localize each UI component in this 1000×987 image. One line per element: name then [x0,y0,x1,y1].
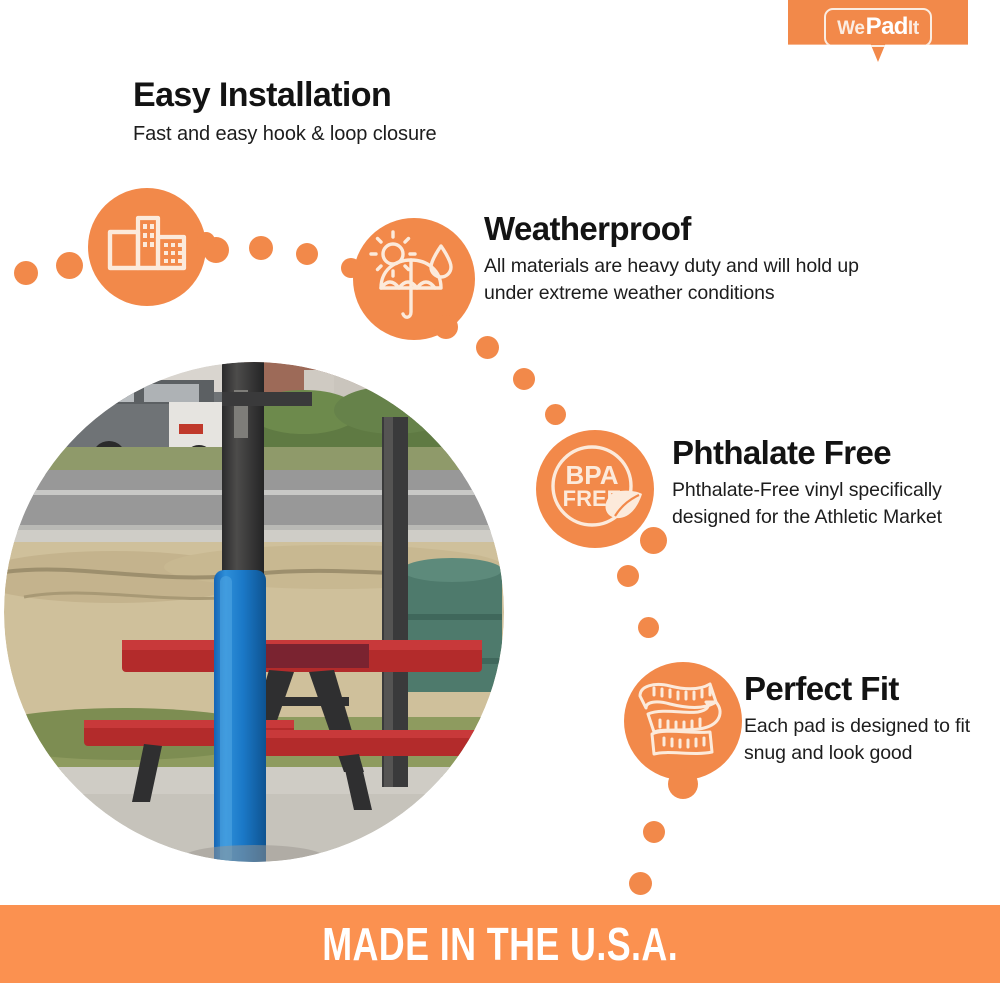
made-in-usa-banner: MADE IN THE U.S.A. [0,905,1000,983]
path-dot [629,872,652,895]
path-dot [14,261,38,285]
bpa-free-leaf-icon: BPA FREE [536,430,654,548]
path-dot [545,404,566,425]
feature-block-perfect-fit: Perfect Fit Each pad is designed to fit … [744,672,994,766]
path-dot [296,243,318,265]
path-dot [617,565,639,587]
badge-nub [434,315,458,339]
logo-shield-shape: We Pad It [788,0,968,62]
logo-text-pad: Pad [866,13,908,41]
path-dot [638,617,659,638]
feature-description-weatherproof: All materials are heavy duty and will ho… [484,253,904,307]
logo-text-we: We [837,18,865,40]
badge-nub [640,527,667,554]
building-icon [88,188,206,306]
path-dot [56,252,83,279]
path-dot [476,336,499,359]
feature-description-perfect-fit: Each pad is designed to fit snug and loo… [744,713,994,767]
path-dot [249,236,273,260]
logo-wordmark: We Pad It [824,8,932,47]
product-features-infographic: We Pad It Easy Installation Fast and eas… [0,0,1000,987]
measuring-tape-icon [624,662,742,780]
brand-logo[interactable]: We Pad It [788,0,968,62]
badge-nub [668,769,698,799]
path-dot [643,821,665,843]
feature-title-perfect-fit: Perfect Fit [744,672,994,707]
feature-title-weatherproof: Weatherproof [484,212,904,247]
logo-text-it: It [908,18,919,40]
product-photo [4,362,504,862]
made-in-usa-text: MADE IN THE U.S.A. [322,917,678,971]
feature-block-weatherproof: Weatherproof All materials are heavy dut… [484,212,904,306]
feature-block-easy-installation: Easy Installation Fast and easy hook & l… [133,78,563,148]
feature-title-easy-installation: Easy Installation [133,78,563,114]
badge-nub [341,258,361,278]
badge-nub [197,232,215,250]
feature-description-easy-installation: Fast and easy hook & loop closure [133,121,563,149]
feature-description-phthalate-free: Phthalate-Free vinyl specifically design… [672,477,982,531]
path-dot [513,368,535,390]
feature-title-phthalate-free: Phthalate Free [672,436,982,471]
feature-block-phthalate-free: Phthalate Free Phthalate-Free vinyl spec… [672,436,982,530]
